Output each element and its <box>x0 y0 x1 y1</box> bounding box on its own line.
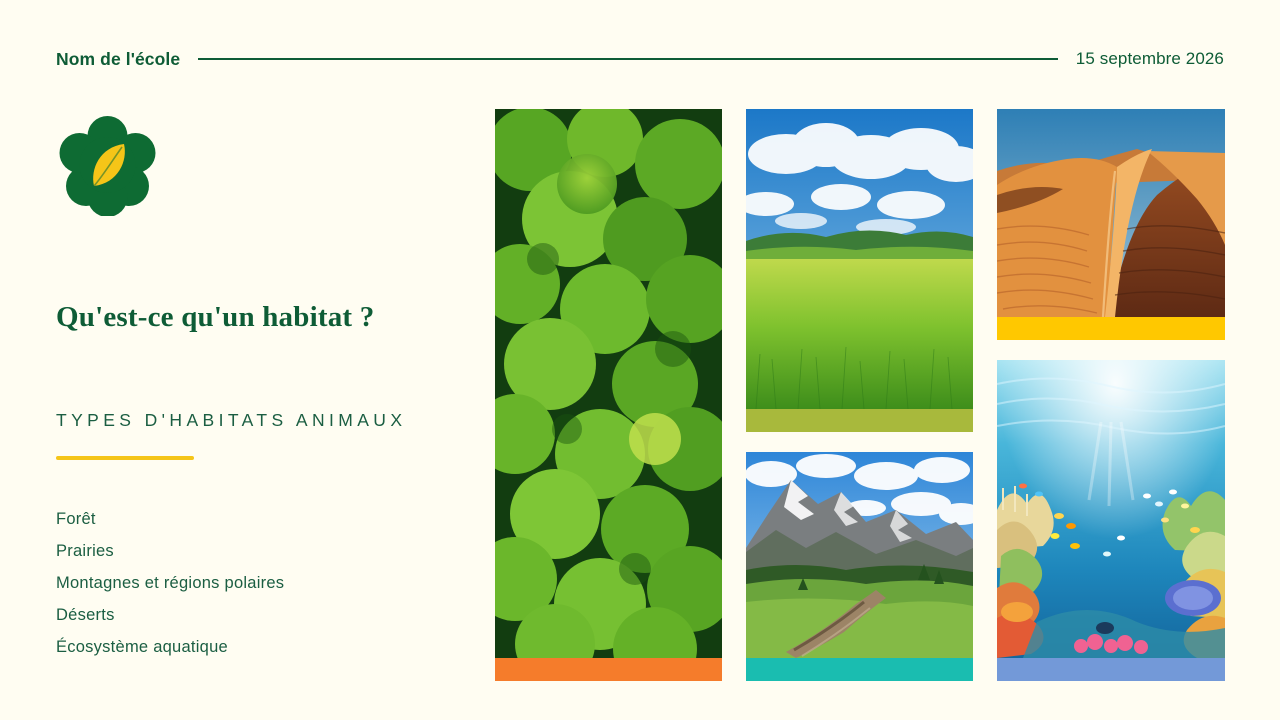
image-card-grassland <box>746 109 973 432</box>
section-subtitle: Types d'habitats animaux <box>56 408 441 433</box>
header-divider-rule <box>198 58 1058 60</box>
list-item: Prairies <box>56 535 476 567</box>
image-card-underwater <box>997 360 1225 681</box>
slide-date: 15 septembre 2026 <box>1076 49 1224 69</box>
image-card-desert <box>997 109 1225 340</box>
desert-dunes-photo <box>997 109 1225 317</box>
list-item: Déserts <box>56 599 476 631</box>
accent-bar-grassland <box>746 409 973 432</box>
school-name: Nom de l'école <box>56 49 180 70</box>
forest-canopy-photo <box>495 109 722 658</box>
accent-bar-desert <box>997 317 1225 340</box>
slide-header: Nom de l'école 15 septembre 2026 <box>56 42 1224 76</box>
grassland-photo <box>746 109 973 409</box>
coral-reef-photo <box>997 360 1225 658</box>
image-card-mountain <box>746 452 973 681</box>
flower-leaf-icon <box>56 113 159 216</box>
image-card-forest <box>495 109 722 681</box>
habitat-type-list: Forêt Prairies Montagnes et régions pola… <box>56 503 476 663</box>
mountain-photo <box>746 452 973 658</box>
school-logo <box>56 113 159 216</box>
accent-bar-underwater <box>997 658 1225 681</box>
list-item: Forêt <box>56 503 476 535</box>
subtitle-underline <box>56 456 194 460</box>
list-item: Montagnes et régions polaires <box>56 567 476 599</box>
accent-bar-mountain <box>746 658 973 681</box>
list-item: Écosystème aquatique <box>56 631 476 663</box>
slide-canvas: Nom de l'école 15 septembre 2026 Qu'est-… <box>0 0 1280 720</box>
accent-bar-forest <box>495 658 722 681</box>
page-title: Qu'est-ce qu'un habitat ? <box>56 301 476 334</box>
